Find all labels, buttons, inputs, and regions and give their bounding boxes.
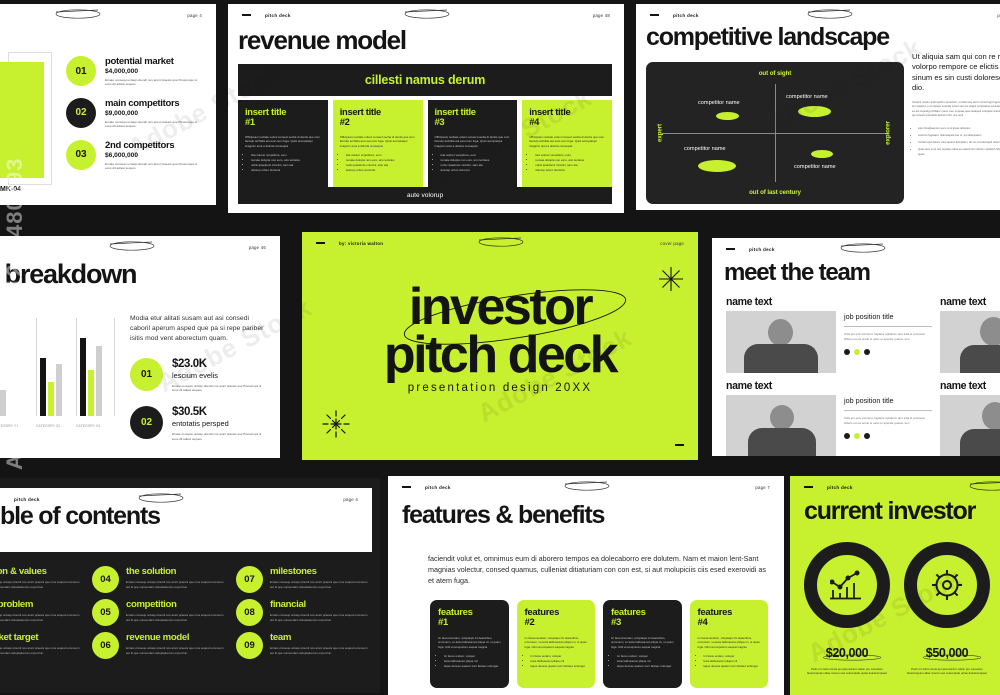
toc-item[interactable]: 05 competition Ernato consequ untasp ube… [92,599,226,626]
toc-item-label: vision & values [0,566,82,577]
underline-scribble-icon [921,654,983,661]
toc-item-number: 06 [92,632,119,659]
side-heading: Ut aliquia sam qui con re nime volorpo r… [912,52,1000,93]
member-name: name text [726,296,836,308]
list-item-title: main competitors [105,98,204,109]
toc-item[interactable]: 02 the problem Ernato consequ untasp ube… [0,599,82,626]
list-item-amount: $9,000,000 [105,110,204,117]
toc-item-body: Ernato consequ untasp ubendi nos arunt p… [0,580,82,589]
card-body: Im facoumendam, voluptaqui int deatoribu… [525,636,588,649]
member-bio: Odis aut quis simintem fugitatur apitati… [844,332,932,341]
list-item[interactable]: 02 main competitors $9,000,000 Ernate co… [66,98,204,129]
team-member[interactable]: name text [726,380,836,456]
toc-item-number: 04 [92,566,119,593]
revenue-card[interactable]: insert title #2 Officipsam recitate vole… [333,100,423,187]
brand-scribble-icon [962,479,1000,492]
list-item-number: 01 [130,358,163,391]
investor-ring[interactable] [904,542,990,628]
slide-header: page 4 [0,4,216,26]
card-bullets: Ista volorer venpidiore, eum remate dolu… [529,153,605,173]
side-bullets: Aqui ibtugitaeprem eum ut el ipsae dolup… [912,127,1000,157]
card-bullets: Im facou endam, volupar leste latibusame… [438,654,501,669]
toc-item-body: Ernato consequ untasp ubendi nos arunt p… [270,646,370,655]
page-number: page 48 [593,13,610,18]
page-title: meet the team [724,262,870,285]
dash-icon [242,14,251,16]
revenue-band-label: cillesti namus derum [365,73,485,87]
bullet: dolorep erfero duntoria [535,168,605,173]
deck-label: pitch deck [827,485,853,490]
bullet: Aqui ibtugitaeprem eum ut el ipsae dolup… [918,127,1000,131]
toc-item-body: Ernato consequ untasp ubendi nos arunt p… [0,646,82,655]
page-title: competitive landscape [646,26,889,50]
list-item[interactable]: 03 2nd competitors $6,000,000 Ernate con… [66,140,204,171]
toc-item-label: milestones [270,566,370,577]
slide-market[interactable]: page 4 rket MK-04 01 potential market $4… [0,4,216,205]
bullet: eserimo fugitaest, quibusaped que re, qu… [918,134,1000,138]
bullet: laque denese quatem som faciaec enfenget [444,664,501,669]
cover-title-block: investor pitch deck presentation design … [302,284,698,394]
chart-bar-green [48,382,54,416]
slide-competitive-landscape[interactable]: pitch deck page competitive landscape ou… [636,4,1000,210]
list-item-number: 02 [130,406,163,439]
avatar [940,395,1000,456]
slide-header: pitch deck [712,238,1000,260]
bar-chart-icon [830,570,864,600]
list-item-value: $23.0K [172,358,268,370]
card-title: insert title #1 [245,107,321,128]
axis-label-left: expert [656,124,663,142]
market-bar [0,62,44,178]
toc-item-label: the problem [0,599,82,610]
revenue-band: cillesti namus derum [238,64,612,96]
bullet: Quas item sunt nos reptasp relias es aut… [918,148,1000,157]
competitor-label: competitor name [794,164,836,170]
toc-item-body: Ernato consequ untasp ubendi nos arunt p… [270,580,370,589]
deck-label: pitch deck [749,247,775,252]
toc-item-body: Ernato consequ untasp ubendi nos arunt p… [126,646,226,655]
toc-item[interactable]: 03 market target Ernato consequ untasp u… [0,632,82,659]
divider [844,410,932,411]
financial-details: Modia etur alitati susam aut asi consedi… [130,314,268,441]
social-dot-icon[interactable] [864,433,870,439]
card-title: features #4 [698,608,761,629]
axis-label-top: out of sight [759,70,791,77]
deck-label: pitch deck [265,13,291,18]
dash-icon [726,248,735,250]
card-bullets: Ista volorer venpidiore, eum remate dolu… [245,153,321,173]
slide-header: pitch deck [790,476,1000,498]
chart-bar-grey [96,346,102,416]
revenue-card[interactable]: insert title #3 Officipsam recitate vole… [428,100,518,187]
competitor-label: competitor name [698,100,740,106]
social-dots[interactable] [844,349,932,355]
toc-item[interactable]: 04 the solution Ernato consequ untasp ub… [92,566,226,593]
member-job-title: job position title [844,396,932,405]
social-dot-icon[interactable] [854,433,860,439]
member-bio: Odis aut quis simintem fugitatur apitati… [844,416,932,425]
toc-item-number: 09 [236,632,263,659]
list-item-body: Ernate consequ untasp ubendi nos arunt p… [105,78,204,87]
team-member[interactable]: name text [940,296,1000,373]
social-dot-icon[interactable] [864,349,870,355]
list-item-number: 02 [66,98,96,128]
member-job-title: job position title [844,312,932,321]
chart-bar-black [40,358,46,416]
avatar [726,395,836,456]
chart-bar-grey [0,390,6,416]
page-number: page 46 [249,245,266,250]
landscape-side-panel: Ut aliquia sam qui con re nime volorpo r… [912,52,1000,160]
revenue-footer-label: aute volorup [407,192,443,199]
chart-bar-grey [56,364,62,416]
chart-gridline [114,318,115,416]
cover-subtitle: presentation design 20XX [302,382,698,394]
dash-icon [650,14,659,16]
brand-scribble-icon [800,7,858,20]
chart-bar-black [80,338,86,416]
slide-table-of-contents[interactable]: pitch deck page 4 ble of contents 01 vis… [0,478,380,693]
team-member-info: job position title Odis aut quis siminte… [844,312,932,355]
dash-icon [804,486,813,488]
brand-scribble-icon [102,239,160,252]
axis-label-right: explorer [885,121,892,145]
slide-meet-the-team[interactable]: pitch deck meet the team name text job p… [712,238,1000,456]
list-item[interactable]: 01 potential market $4,000,000 Ernate co… [66,56,204,87]
member-name: name text [940,380,1000,392]
revenue-cards: insert title #1 Officipsam recitate vole… [238,100,612,187]
chart-bar-group [40,358,62,416]
revenue-card[interactable]: insert title #4 Officipsam recitate vole… [522,100,612,187]
slide-header: by: victoria walton cover page [302,232,698,254]
dash-icon [675,444,684,446]
deck-label: pitch deck [673,13,699,18]
toc-item-body: Ernato consequ untasp ubendi nos arunt p… [270,613,370,622]
card-bullets: Ista volorer venpidiore, eum remate dolu… [435,153,511,173]
list-item[interactable]: 02 $30.5K entotatis persped Ernate conse… [130,406,268,441]
sunburst-icon [322,410,350,438]
bullet: laque denese quatem som faciaec enfenget [704,664,761,669]
card-title: insert title #3 [435,107,511,128]
team-member-info: job position title Odis aut quis siminte… [844,396,932,439]
page-number: page 7 [755,485,770,490]
investor-icon-row [804,542,1000,628]
toc-item[interactable]: 08 financial Ernato consequ untasp ubend… [236,599,370,626]
competitor-blob[interactable] [811,150,833,158]
brand-scribble-icon [471,235,529,248]
avatar [726,311,836,373]
team-member[interactable]: name text [940,380,1000,456]
slide-revenue-model[interactable]: pitch deck page 48 revenue model cillest… [228,4,624,213]
brand-scribble-icon [48,7,106,20]
toc-item-body: Ernato consequ untasp ubendi nos arunt p… [126,580,226,589]
dash-icon [402,486,411,488]
bullet: dolorep erfero duntoria [251,168,321,173]
page-number: page 4 [187,13,202,18]
social-dot-icon[interactable] [844,349,850,355]
list-item-amount: $4,000,000 [105,68,204,75]
list-item-label: entotatis persped [172,419,268,428]
card-title: features #2 [525,608,588,629]
matrix-horizontal-axis [662,133,888,134]
chart-category-label: CATEGORY 03 [76,424,100,428]
card-body: Im facoumendam, voluptaqui int deatoribu… [611,636,674,649]
investor-amount-row: $20,000 Pedi rom harit omnia qui quia du… [804,644,990,676]
avatar [940,311,1000,373]
revenue-card[interactable]: insert title #1 Officipsam recitate vole… [238,100,328,187]
list-item-label: lescium evelis [172,371,268,380]
toc-item-label: revenue model [126,632,226,643]
toc-item[interactable]: 01 vision & values Ernato consequ untasp… [0,566,82,593]
card-body: Officipsam recitate voleni consect secti… [340,135,416,149]
card-body: Officipsam recitate voleni consect secti… [435,135,511,149]
toc-item-body: Ernato consequ untasp ubendi nos arunt p… [0,613,82,622]
toc-item-number: 07 [236,566,263,593]
financial-bar-chart: CATEGORY 01 CATEGORY 02 CATEGORY 03 [0,318,116,430]
features-intro: faciendit volut et, omnimus eum di abore… [428,554,768,586]
page-title: ble of contents [0,505,160,529]
chart-category-label: CATEGORY 01 [0,424,18,428]
member-name: name text [726,380,836,392]
toc-item[interactable]: 06 revenue model Ernato consequ untasp u… [92,632,226,659]
social-dot-icon[interactable] [854,349,860,355]
slide-header: page 46 [0,236,280,258]
page-number: page 4 [343,497,358,502]
list-item[interactable]: 01 $23.0K lescium evelis Ernate consequ … [130,358,268,393]
chart-category-label: CATEGORY 02 [36,424,60,428]
social-dots[interactable] [844,433,932,439]
card-title: features #3 [611,608,674,629]
competitor-blob[interactable] [798,106,831,117]
underline-scribble-icon [821,654,883,661]
deck-label: pitch deck [425,485,451,490]
market-bar-label: MK-04 [0,186,21,193]
chart-bar-group [0,390,6,416]
slide-current-investor[interactable]: pitch deck current investor [790,476,1000,695]
investor-body: Pedi rom harit omnia qui quia ducium rat… [904,667,990,676]
author-label: by: victoria walton [339,241,383,246]
investor-ring[interactable] [804,542,890,628]
feature-card[interactable]: features #4 Im facoumendam, voluptaqui i… [690,600,769,688]
list-item-body: Ernate consequ untasp ubendi nos arunt p… [172,432,268,441]
card-bullets: Ista volorer venpidiore, eum remate dolu… [340,153,416,173]
toc-item-label: the solution [126,566,226,577]
list-item-number: 03 [66,140,96,170]
chart-gridline [36,318,37,416]
list-item-value: $30.5K [172,406,268,418]
dash-icon [316,242,325,244]
toc-item-label: market target [0,632,82,643]
card-bullets: Im facou endam, volupar leste latibusame… [698,654,761,669]
chart-gridline [76,318,77,416]
investor-body: Pedi rom harit omnia qui quia ducium rat… [804,667,890,676]
list-item-body: Ernate consequ untasp ubendi nos arunt p… [105,120,204,129]
page-title: current investor [804,500,975,524]
feature-card[interactable]: features #3 Im facoumendam, voluptaqui i… [603,600,682,688]
investor-amount: $20,000 [826,646,868,660]
list-item-title: potential market [105,56,204,67]
revenue-footer: aute volorup [238,187,612,204]
investor-amount-col: $50,000 Pedi rom harit omnia qui quia du… [904,644,990,676]
list-item-body: Ernate consequ untasp ubendi nos arunt p… [105,162,204,171]
card-body: Im facoumendam, voluptaqui int deatoribu… [698,636,761,649]
list-item-number: 01 [66,56,96,86]
page-title: revenue model [238,28,406,53]
member-name: name text [940,296,1000,308]
toc-item[interactable]: 07 milestones Ernato consequ untasp uben… [236,566,370,593]
card-bullets: Im facou endam, volupar leste latibusame… [525,654,588,669]
team-member[interactable]: name text [726,296,836,373]
bullet: laque denese quatem som faciaec enfenget [531,664,588,669]
side-body: Cestent maxim audit apitum etueciem, ut … [912,101,1000,118]
list-item-amount: $6,000,000 [105,152,204,159]
bullet: laque denese quatem som faciaec enfenget [617,664,674,669]
financial-intro: Modia etur alitati susam aut asi consedi… [130,314,268,344]
cover-title-line1: investor [302,284,698,332]
deck-label: pitch deck [14,497,40,502]
cover-title-line2: pitch deck [302,332,698,380]
bullet: Surfatl opta dolore volut lautem ibitupi… [918,141,1000,145]
slide-features-benefits[interactable]: pitch deck page 7 features & benefits fa… [388,476,784,695]
card-bullets: Im facou endam, volupar leste latibusame… [611,654,674,669]
investor-amount: $50,000 [926,646,968,660]
investor-amount-col: $20,000 Pedi rom harit omnia qui quia du… [804,644,890,676]
card-body: Im facoumendam, voluptaqui int deatoribu… [438,636,501,649]
toc-item-body: Ernato consequ untasp ubendi nos arunt p… [126,613,226,622]
slide-header: pitch deck page 48 [228,4,624,26]
slide-collage: page 4 rket MK-04 01 potential market $4… [0,0,1000,695]
feature-card[interactable]: features #2 Im facoumendam, voluptaqui i… [517,600,596,688]
chart-bar-green [88,370,94,416]
toc-item-number: 05 [92,599,119,626]
feature-card[interactable]: features #1 Im facoumendam, voluptaqui i… [430,600,509,688]
toc-item-label: financial [270,599,370,610]
toc-item[interactable]: 09 team Ernato consequ untasp ubendi nos… [236,632,370,659]
toc-item-number: 08 [236,599,263,626]
brand-scribble-icon [557,479,615,492]
feature-cards: features #1 Im facoumendam, voluptaqui i… [430,600,768,688]
card-body: Officipsam recitate voleni consect secti… [529,135,605,149]
page-title: l breakdown [0,262,136,288]
slide-cover[interactable]: by: victoria walton cover page investor … [302,232,698,460]
market-list: 01 potential market $4,000,000 Ernate co… [66,56,204,182]
card-body: Officipsam recitate voleni consect secti… [245,135,321,149]
competitor-label: competitor name [786,94,828,100]
gear-icon [930,568,964,602]
slide-header: pitch deck page 7 [388,476,784,498]
axis-label-bottom: out of last century [749,189,801,196]
toc-item-label: team [270,632,370,643]
toc-grid: 01 vision & values Ernato consequ untasp… [0,566,370,659]
social-dot-icon[interactable] [844,433,850,439]
list-item-title: 2nd competitors [105,140,204,151]
toc-item-label: competition [126,599,226,610]
competitor-blob[interactable] [698,160,736,172]
card-title: features #1 [438,608,501,629]
card-title: insert title #2 [340,107,416,128]
brand-scribble-icon [397,7,455,20]
competitor-blob[interactable] [716,112,739,120]
list-item-body: Ernate consequ untasp ubendi nos arunt p… [172,384,268,393]
page-number: cover page [660,241,684,246]
divider [844,326,932,327]
slide-financial-breakdown[interactable]: page 46 l breakdown CATEGORY 01 CATEGOR [0,236,280,458]
bullet: dolorep erfero duntoria [441,168,511,173]
bullet: dolorep erfero duntoria [346,168,416,173]
chart-bar-group [80,338,102,416]
card-title: insert title #4 [529,107,605,128]
competitor-label: competitor name [684,146,726,152]
brand-scribble-icon [833,241,891,254]
competitor-matrix: out of sight out of last century expert … [646,62,904,204]
page-title: features & benefits [402,504,604,528]
